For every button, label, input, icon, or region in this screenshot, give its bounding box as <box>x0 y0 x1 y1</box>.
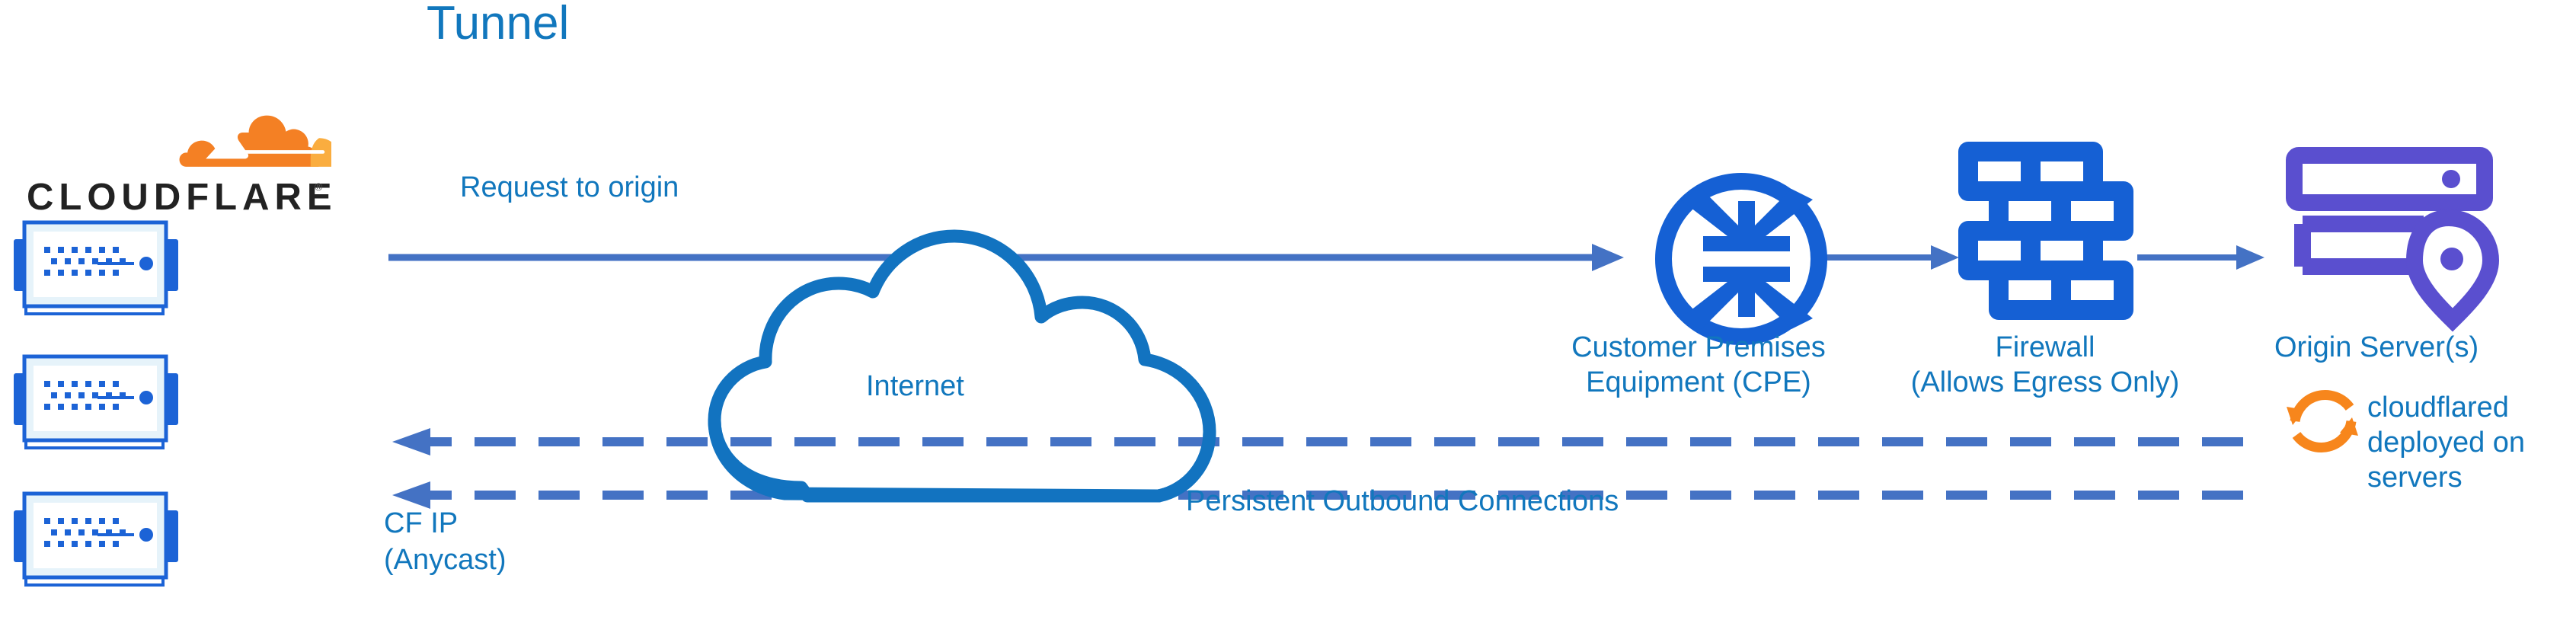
internet-cloud-icon <box>714 236 1210 496</box>
cloudflared-label-line2: deployed on <box>2367 426 2525 460</box>
cpe-label-line2: Equipment (CPE) <box>1531 366 1866 400</box>
server-rack-icon <box>8 478 343 593</box>
cf-ip-label-line2: (Anycast) <box>384 543 506 577</box>
firewall-brick-icon <box>1968 152 2124 310</box>
firewall-label-line2: (Allows Egress Only) <box>1885 366 2205 400</box>
cpe-expand-arrows-icon <box>1664 181 1819 337</box>
cloudflared-refresh-icon <box>2287 395 2358 447</box>
server-rack-icon <box>8 341 343 456</box>
cpe-to-firewall-arrow <box>1820 245 1959 270</box>
cloudflared-label-line1: cloudflared <box>2367 391 2509 425</box>
persistent-outbound-label: Persistent Outbound Connections <box>1186 484 1619 519</box>
cloudflared-label-line3: servers <box>2367 461 2463 495</box>
request-to-origin-label: Request to origin <box>460 171 679 205</box>
internet-cloud-bottom-overlap <box>714 420 1210 496</box>
page-title: Tunnel <box>427 0 569 48</box>
outbound-upper-dashed-arrow <box>392 428 2243 456</box>
cpe-label-line1: Customer Premises <box>1531 331 1866 365</box>
cf-ip-label-line1: CF IP <box>384 507 458 541</box>
origin-server-pin-icon <box>2294 155 2491 320</box>
server-rack-icon <box>8 207 343 321</box>
diagram-canvas: Tunnel CLOUDFLARE ® <box>0 0 2576 617</box>
internet-label: Internet <box>866 369 964 404</box>
firewall-to-origin-arrow <box>2137 245 2264 270</box>
origin-server-label: Origin Server(s) <box>2274 331 2479 365</box>
registered-mark: ® <box>315 181 322 193</box>
request-arrow <box>388 244 1624 271</box>
firewall-label-line1: Firewall <box>1885 331 2205 365</box>
cloudflare-logo: CLOUDFLARE ® <box>27 110 331 213</box>
